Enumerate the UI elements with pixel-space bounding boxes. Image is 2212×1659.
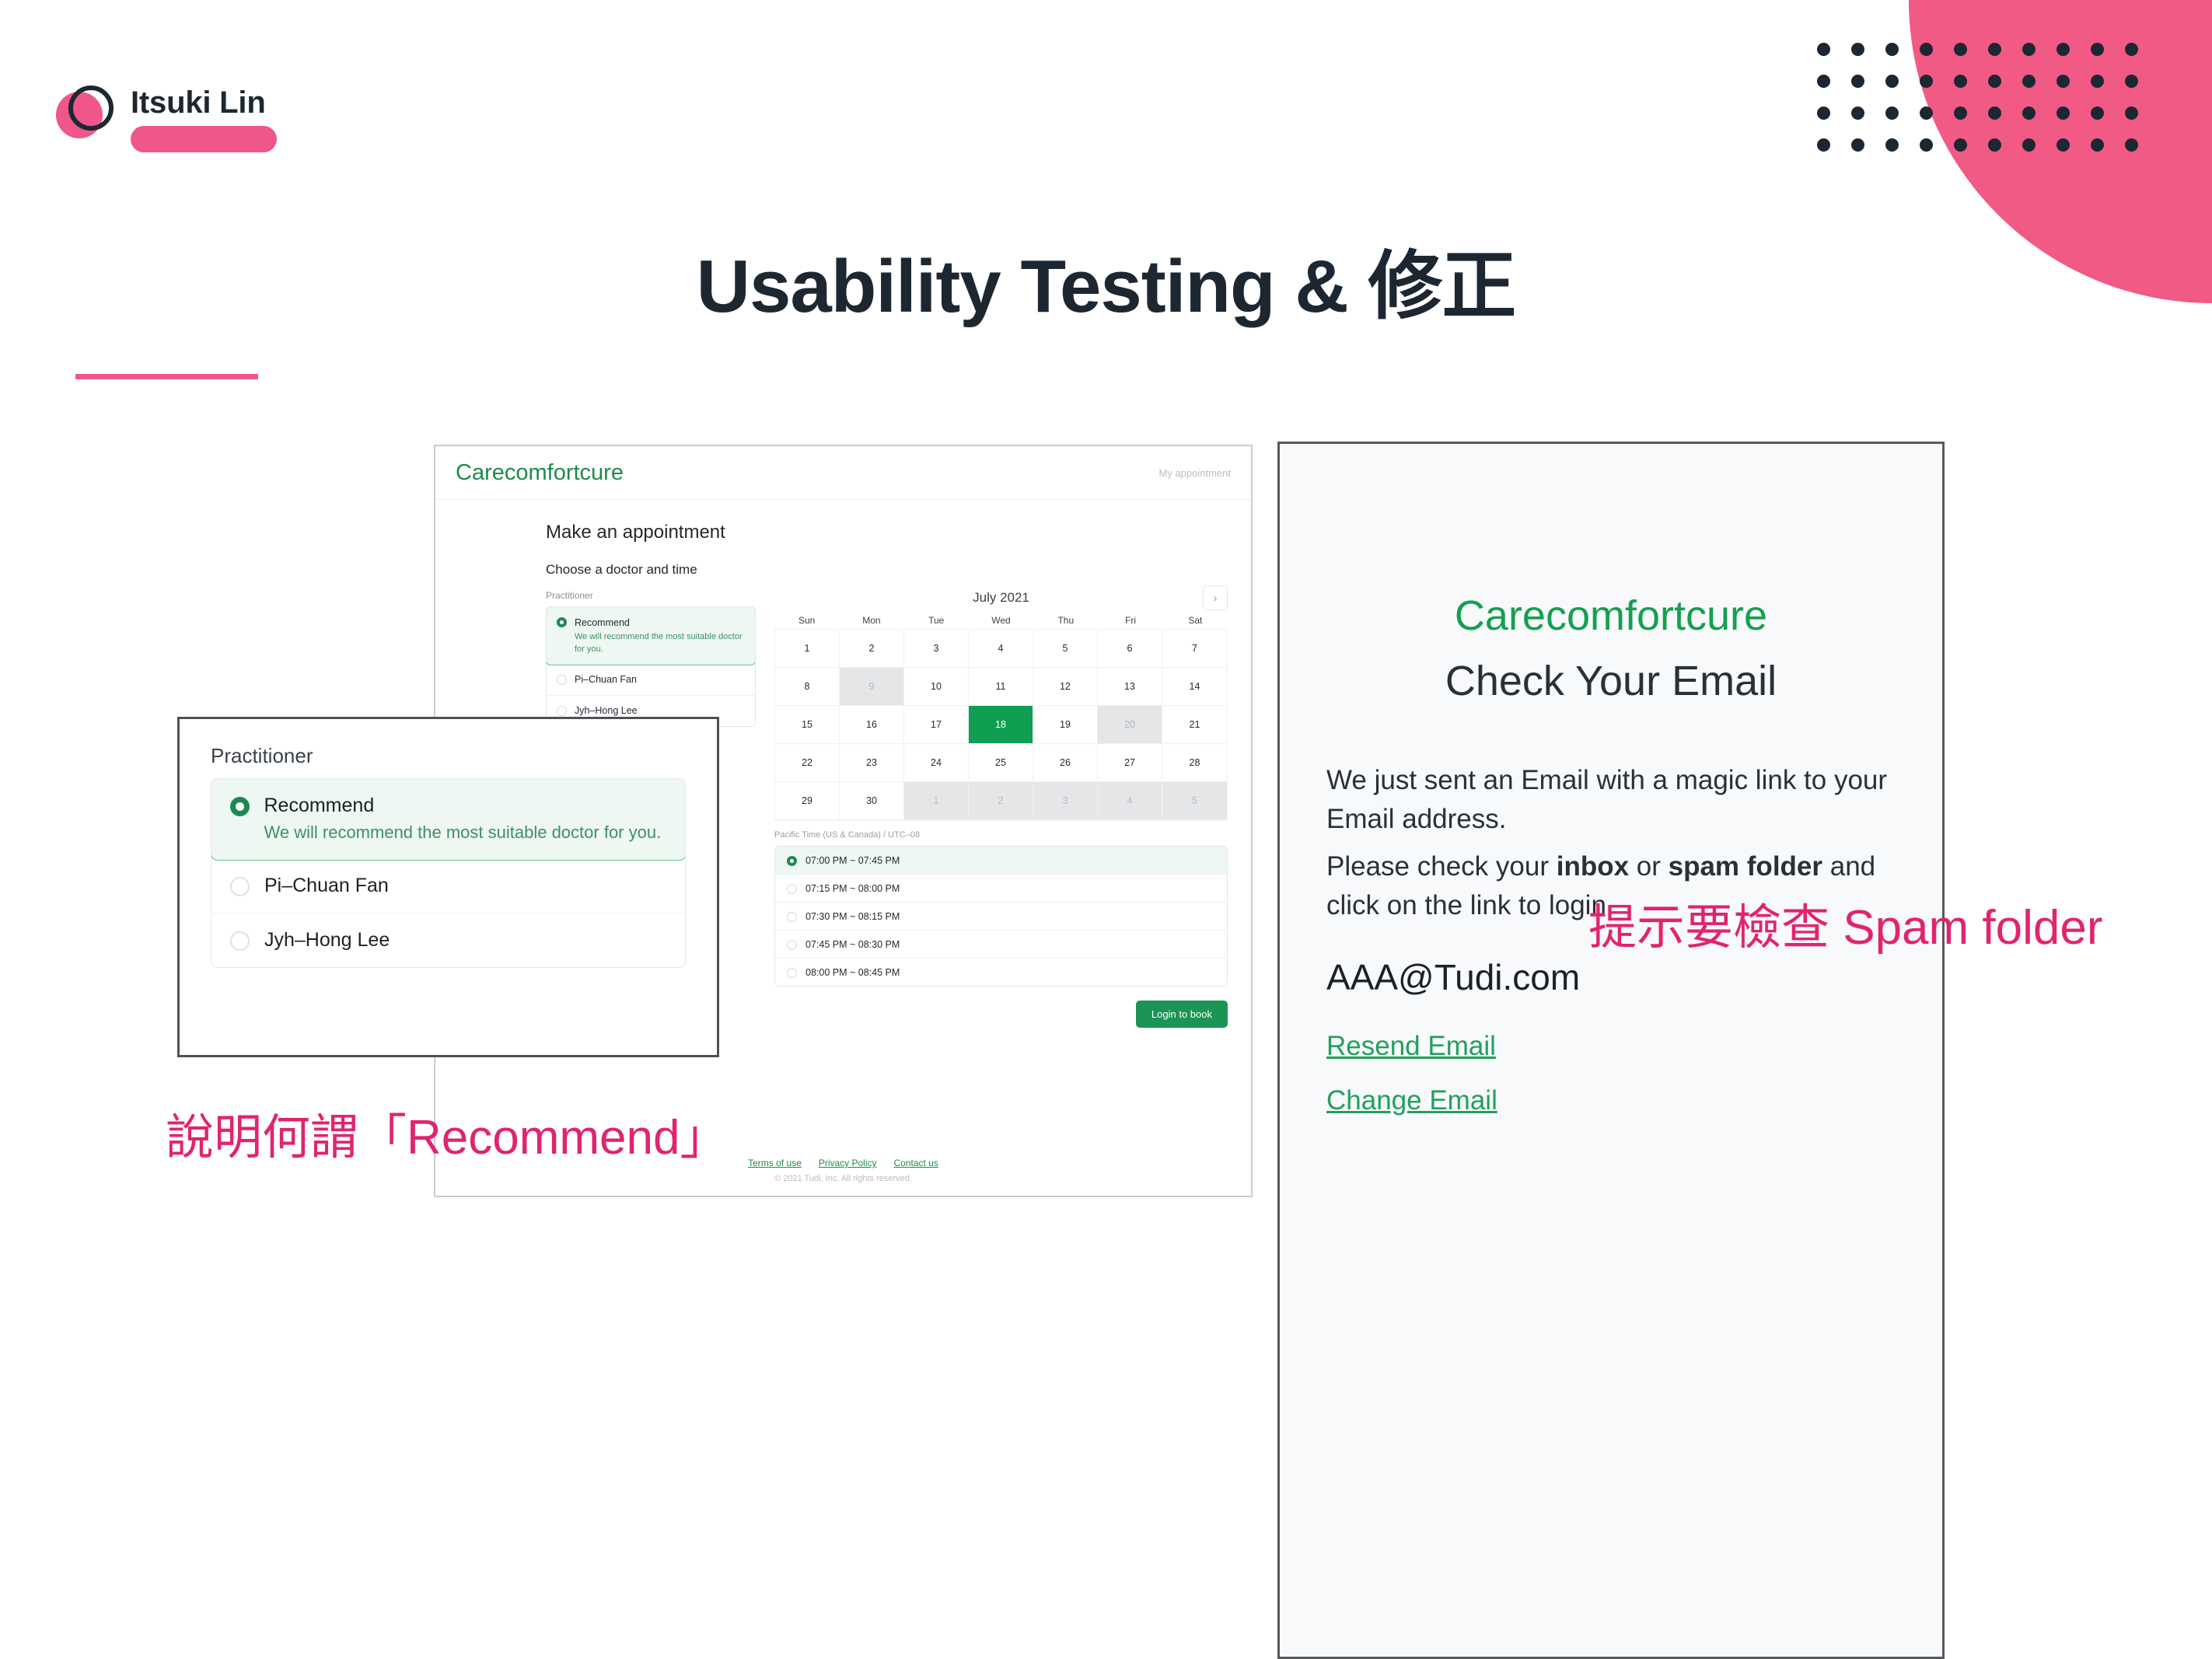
booking-heading: Make an appointment [546,522,1228,543]
weekday-label: Tue [904,615,969,626]
radio-icon[interactable] [787,884,797,894]
check-email-screenshot: Carecomfortcure Check Your Email We just… [1277,442,1945,1659]
overlay-practitioner-name: Pi–Chuan Fan [264,875,389,897]
practitioner-option-recommend[interactable]: Recommend We will recommend the most sui… [546,606,756,665]
footer-link-contact[interactable]: Contact us [894,1158,938,1168]
radio-icon[interactable] [230,931,250,951]
page-title: Usability Testing & 修正 [0,225,2212,334]
radio-icon[interactable] [787,940,797,950]
chevron-right-icon[interactable]: › [1203,585,1228,610]
brand-accent-bar [131,126,277,152]
practitioner-zoom-overlay: Practitioner Recommend We will recommend… [177,717,719,1057]
my-appointment-link[interactable]: My appointment [1159,467,1232,479]
calendar-day-cell[interactable]: 9 [840,668,904,706]
time-slot-option[interactable]: 07:45 PM ~ 08:30 PM [775,931,1227,959]
radio-icon[interactable] [230,877,250,896]
email-page-heading: Check Your Email [1326,657,1896,705]
calendar-day-cell[interactable]: 30 [840,782,904,820]
timezone-note: Pacific Time (US & Canada) / UTC–08 [774,830,1228,840]
calendar-column: July 2021 › Sun Mon Tue Wed Thu Fri Sat … [774,590,1228,1028]
calendar-day-cell[interactable]: 18 [969,706,1033,744]
calendar-day-cell[interactable]: 4 [969,630,1033,668]
calendar-day-cell[interactable]: 27 [1098,744,1162,782]
line2-part-c: or [1629,851,1669,882]
time-slot-option[interactable]: 08:00 PM ~ 08:45 PM [775,959,1227,986]
title-accent-rule [75,374,258,379]
calendar-day-cell[interactable]: 5 [1033,630,1098,668]
time-slot-label: 07:00 PM ~ 07:45 PM [805,855,900,866]
annotation-recommend: 說明何謂「Recommend」 [166,1112,728,1165]
booking-subheading: Choose a doctor and time [546,562,1228,578]
footer-link-privacy[interactable]: Privacy Policy [819,1158,877,1168]
slide-root: Itsuki Lin Usability Testing & 修正 Careco… [0,0,2212,1659]
calendar-day-cell[interactable]: 28 [1162,744,1227,782]
radio-icon[interactable] [230,797,250,816]
calendar-day-cell: 5 [1162,782,1227,820]
weekday-label: Fri [1098,615,1162,626]
calendar-month-label: July 2021 [973,590,1029,606]
weekday-label: Sun [774,615,839,626]
brand-logo: Itsuki Lin [56,84,277,152]
practitioner-label: Practitioner [546,590,756,601]
resend-email-link[interactable]: Resend Email [1326,1031,1896,1062]
calendar-day-cell[interactable]: 6 [1098,630,1162,668]
booking-logo: Carecomfortcure [456,460,624,486]
calendar-day-cell[interactable]: 15 [775,706,840,744]
time-slot-option[interactable]: 07:00 PM ~ 07:45 PM [775,847,1227,875]
calendar-day-cell: 3 [1033,782,1098,820]
radio-icon[interactable] [787,968,797,978]
calendar-header: July 2021 › [774,590,1228,606]
calendar-day-cell: 2 [969,782,1033,820]
practitioner-name: Recommend [575,617,630,628]
calendar-day-cell[interactable]: 21 [1162,706,1227,744]
time-slot-label: 07:30 PM ~ 08:15 PM [805,911,900,922]
calendar-day-cell[interactable]: 8 [775,668,840,706]
radio-icon[interactable] [557,617,567,627]
time-slot-label: 07:15 PM ~ 08:00 PM [805,883,900,894]
calendar-day-cell[interactable]: 14 [1162,668,1227,706]
calendar-day-cell[interactable]: 19 [1033,706,1098,744]
calendar-day-cell[interactable]: 20 [1098,706,1162,744]
calendar-day-cell[interactable]: 22 [775,744,840,782]
line2-spam-folder: spam folder [1669,851,1822,882]
calendar-day-cell[interactable]: 12 [1033,668,1098,706]
footer-link-terms[interactable]: Terms of use [748,1158,802,1168]
calendar-day-cell[interactable]: 3 [904,630,969,668]
time-slot-label: 08:00 PM ~ 08:45 PM [805,967,900,978]
weekday-label: Mon [839,615,903,626]
calendar-day-cell[interactable]: 1 [775,630,840,668]
practitioner-list: Recommend We will recommend the most sui… [546,606,756,727]
brand-name: Itsuki Lin [131,87,277,118]
practitioner-name: Pi–Chuan Fan [575,673,637,686]
weekday-label: Wed [969,615,1033,626]
calendar-weekday-row: Sun Mon Tue Wed Thu Fri Sat [774,615,1228,626]
calendar-day-cell[interactable]: 26 [1033,744,1098,782]
annotation-spam-folder: 提示要檢查 Spam folder [1588,902,2103,955]
radio-icon[interactable] [787,912,797,922]
booking-header: Carecomfortcure My appointment [435,446,1251,500]
calendar-day-cell[interactable]: 25 [969,744,1033,782]
calendar-day-cell[interactable]: 7 [1162,630,1227,668]
calendar-day-cell[interactable]: 24 [904,744,969,782]
overlay-option-recommend[interactable]: Recommend We will recommend the most sui… [211,778,686,861]
overlay-option-pi-chuan-fan[interactable]: Pi–Chuan Fan [211,859,685,913]
calendar-day-cell[interactable]: 2 [840,630,904,668]
overlay-practitioner-label: Practitioner [211,744,686,768]
overlay-practitioner-name: Recommend [264,795,662,817]
line2-inbox: inbox [1557,851,1629,882]
overlay-practitioner-name: Jyh–Hong Lee [264,929,390,952]
time-slot-option[interactable]: 07:15 PM ~ 08:00 PM [775,875,1227,903]
calendar-day-cell: 4 [1098,782,1162,820]
calendar-day-cell[interactable]: 10 [904,668,969,706]
dot-grid-decoration [1817,43,2159,170]
calendar-day-cell[interactable]: 29 [775,782,840,820]
radio-icon[interactable] [557,706,567,716]
weekday-label: Sat [1163,615,1228,626]
practitioner-description: We will recommend the most suitable doct… [575,631,745,656]
calendar-day-cell[interactable]: 16 [840,706,904,744]
time-slot-option[interactable]: 07:30 PM ~ 08:15 PM [775,903,1227,931]
time-slot-label: 07:45 PM ~ 08:30 PM [805,939,900,950]
email-page-logo: Carecomfortcure [1326,592,1896,640]
footer-copyright: © 2021 Tudi, Inc. All rights reserved. [435,1174,1251,1183]
calendar-day-cell[interactable]: 17 [904,706,969,744]
email-page-line1: We just sent an Email with a magic link … [1326,761,1896,838]
radio-icon[interactable] [787,856,797,866]
time-slot-list: 07:00 PM ~ 07:45 PM07:15 PM ~ 08:00 PM07… [774,846,1228,987]
overlay-practitioner-description: We will recommend the most suitable doct… [264,820,662,844]
practitioner-name: Jyh–Hong Lee [575,704,638,718]
login-to-book-button[interactable]: Login to book [1136,1001,1228,1028]
calendar-day-cell[interactable]: 11 [969,668,1033,706]
change-email-link[interactable]: Change Email [1326,1085,1896,1116]
calendar-grid: 1234567891011121314151617181920212223242… [774,629,1228,821]
practitioner-option-pi-chuan-fan[interactable]: Pi–Chuan Fan [547,665,755,696]
email-address-value: AAA@Tudi.com [1326,956,1896,998]
overlay-option-jyh-hong-lee[interactable]: Jyh–Hong Lee [211,913,685,967]
overlay-practitioner-list: Recommend We will recommend the most sui… [211,778,686,968]
calendar-day-cell[interactable]: 23 [840,744,904,782]
calendar-day-cell[interactable]: 13 [1098,668,1162,706]
weekday-label: Thu [1033,615,1098,626]
line2-part-a: Please check your [1326,851,1557,882]
radio-icon[interactable] [557,675,567,685]
calendar-day-cell: 1 [904,782,969,820]
brand-text-block: Itsuki Lin [131,84,277,152]
circles-logo-icon [56,84,120,148]
